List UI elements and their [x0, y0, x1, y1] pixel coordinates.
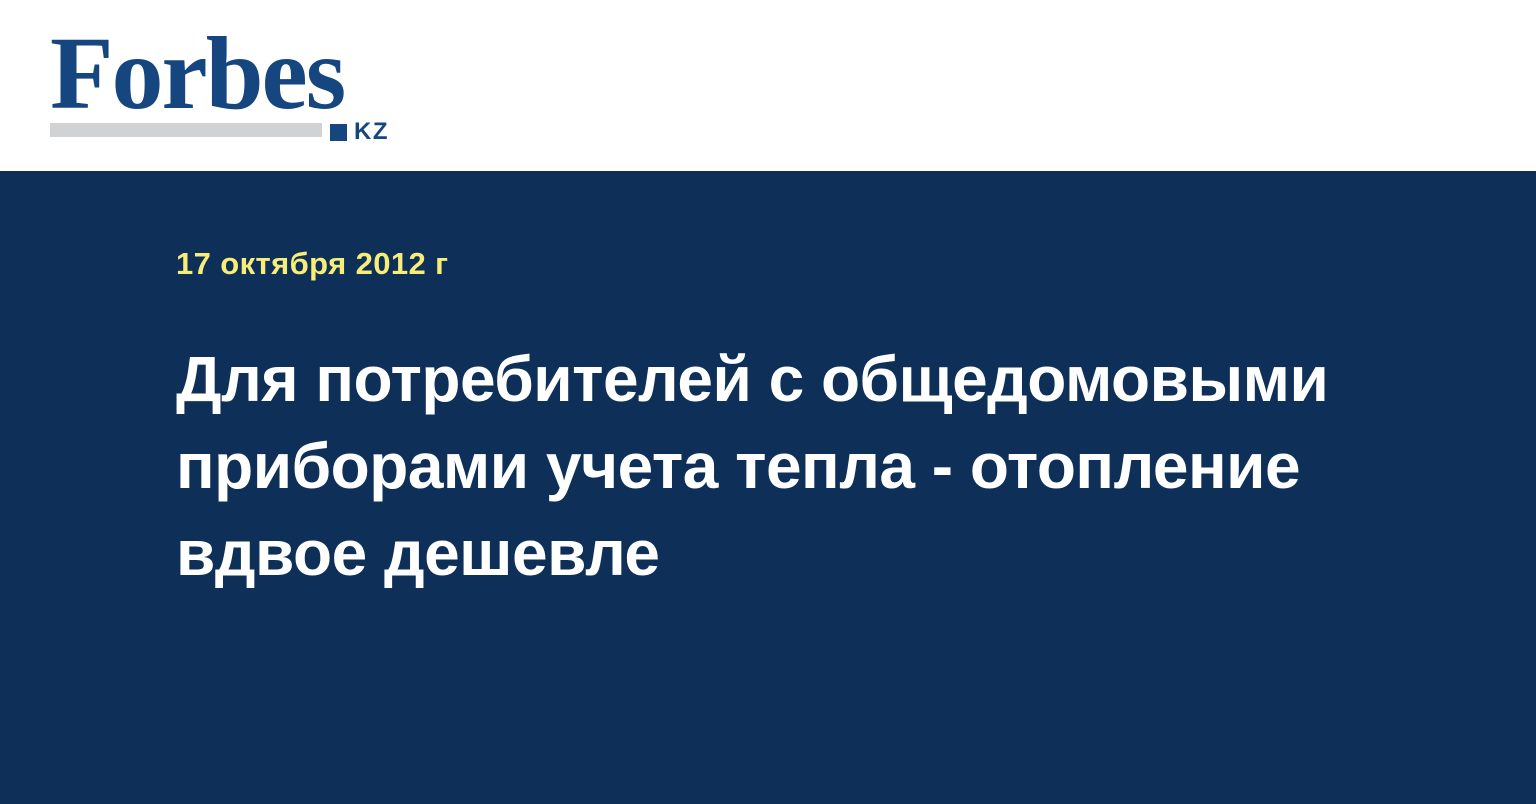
logo-kz-group: KZ: [330, 120, 389, 144]
blue-square-icon: [330, 124, 347, 141]
article-date: 17 октября 2012 г: [176, 247, 448, 281]
forbes-wordmark: Forbes: [50, 22, 344, 126]
forbes-kz-logo[interactable]: Forbes KZ: [50, 22, 410, 142]
logo-rule-icon: [50, 123, 322, 137]
site-header: Forbes KZ: [0, 0, 1536, 171]
article-hero: 17 октября 2012 г Для потребителей с общ…: [0, 171, 1536, 804]
page-root: Forbes KZ 17 октября 2012 г Для потребит…: [0, 0, 1536, 804]
page-title: Для потребителей с общедомовыми приборам…: [176, 336, 1376, 597]
logo-country-code: KZ: [354, 120, 389, 144]
